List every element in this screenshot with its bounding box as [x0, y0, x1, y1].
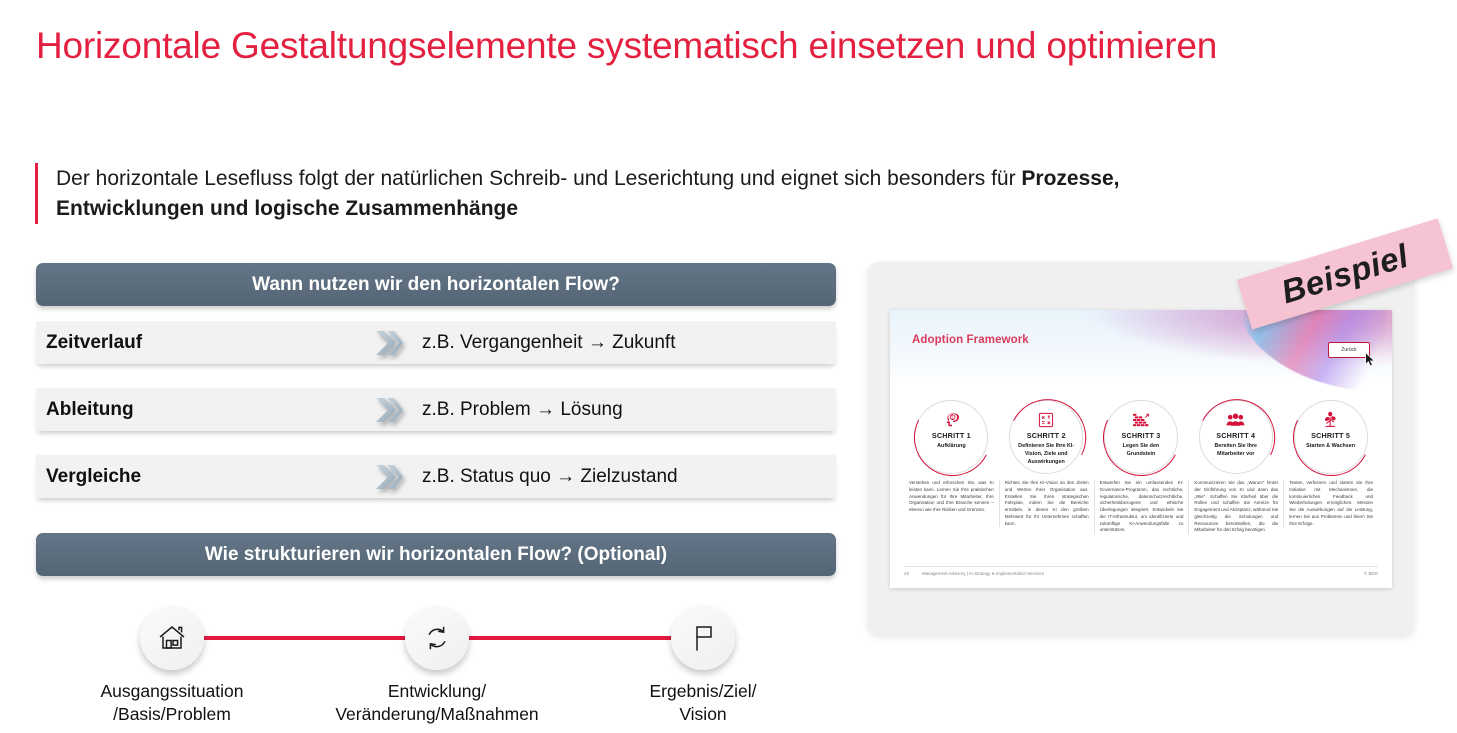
row-value: z.B. Vergangenheit → Zukunft — [412, 332, 676, 354]
flow-label-3-line2: Vision — [602, 703, 804, 726]
footer-copyright: © BDO — [1364, 571, 1378, 576]
flow-label-2-line2: Veränderung/Maßnahmen — [297, 703, 577, 726]
example-slide-footer: 29 Management Advisory | AI Strategy & I… — [904, 566, 1378, 576]
hero-gradient-decoration — [890, 310, 1392, 386]
flow-label-1: Ausgangssituation /Basis/Problem — [52, 680, 292, 727]
step-subtitle: Aufklärung — [919, 443, 983, 451]
lead-paragraph: Der horizontale Lesefluss folgt der natü… — [35, 163, 1235, 224]
lead-text-plain: Der horizontale Lesefluss folgt der natü… — [56, 167, 1021, 190]
row-label: Ableitung — [36, 399, 366, 421]
step-subtitle: Legen Sie den Grundstein — [1109, 443, 1173, 459]
step-body: Entwerfen Sie ein umfassendes KI-Governa… — [1094, 480, 1189, 534]
step-item[interactable]: SCHRITT 3 Legen Sie den Grundstein Entwe… — [1094, 400, 1189, 534]
beispiel-stamp-label: Beispiel — [1277, 237, 1413, 312]
example-panel: Adoption Framework Zurück — [868, 262, 1414, 634]
step-item[interactable]: SCHRITT 5 Starten & Wachsen Testen, verf… — [1283, 400, 1378, 534]
footer-text: Management Advisory | AI Strategy & Impl… — [922, 571, 1364, 576]
step-name: SCHRITT 1 — [932, 431, 971, 440]
step-circle: SCHRITT 2 Definieren Sie Ihre KI-Vision,… — [1009, 400, 1083, 474]
step-name: SCHRITT 2 — [1027, 431, 1066, 440]
red-accent-bar — [35, 163, 38, 224]
chevron-double-right-icon — [366, 395, 412, 425]
step-body: Kommunizieren Sie das „Warum“ hinter der… — [1188, 480, 1283, 534]
table-row[interactable]: Ableitung z.B. Problem → Lösung — [36, 388, 836, 431]
flow-nodes: Ausgangssituation /Basis/Problem Entwick… — [36, 598, 836, 733]
table-row[interactable]: Zeitverlauf z.B. Vergangenheit → Zukunft — [36, 321, 836, 364]
table-row[interactable]: Vergleiche z.B. Status quo → Zielzustand — [36, 455, 836, 498]
growing-plant-icon — [1323, 411, 1338, 428]
people-group-icon — [1226, 411, 1245, 428]
step-name: SCHRITT 5 — [1311, 431, 1350, 440]
example-slide-preview[interactable]: Adoption Framework Zurück — [890, 310, 1392, 588]
row-label: Zeitverlauf — [36, 332, 366, 354]
flow-label-3-line1: Ergebnis/Ziel/ — [602, 680, 804, 703]
flow-label-1-line2: /Basis/Problem — [52, 703, 292, 726]
step-subtitle: Bereiten Sie Ihre Mitarbeiter vor — [1204, 443, 1268, 459]
brain-head-icon — [943, 411, 960, 428]
step-body: Testen, verfeinern und starten Sie Ihre … — [1283, 480, 1378, 527]
steps-row: SCHRITT 1 Aufklärung Verstehen und erfor… — [904, 400, 1378, 534]
row-value: z.B. Problem → Lösung — [412, 399, 623, 421]
step-item[interactable]: SCHRITT 1 Aufklärung Verstehen und erfor… — [904, 400, 999, 534]
step-item[interactable]: SCHRITT 4 Bereiten Sie Ihre Mitarbeiter … — [1188, 400, 1283, 534]
row-value: z.B. Status quo → Zielzustand — [412, 466, 678, 488]
step-subtitle: Definieren Sie Ihre KI-Vision, Ziele und… — [1014, 443, 1078, 466]
flow-label-1-line1: Ausgangssituation — [52, 680, 292, 703]
flag-icon[interactable] — [671, 606, 735, 670]
refresh-cycle-icon[interactable] — [405, 606, 469, 670]
band-header-how: Wie strukturieren wir horizontalen Flow?… — [36, 533, 836, 576]
flow-label-2: Entwicklung/ Veränderung/Maßnahmen — [297, 680, 577, 727]
flow-label-3: Ergebnis/Ziel/ Vision — [602, 680, 804, 727]
brick-wall-icon — [1132, 411, 1150, 428]
slide-root: Horizontale Gestaltungselemente systemat… — [0, 0, 1457, 733]
step-body: Verstehen und erforschen Sie, was KI lei… — [904, 480, 999, 514]
step-name: SCHRITT 3 — [1122, 431, 1161, 440]
house-icon[interactable] — [140, 606, 204, 670]
page-title: Horizontale Gestaltungselemente systemat… — [36, 22, 1276, 69]
row-label: Vergleiche — [36, 466, 366, 488]
mouse-cursor-icon — [1365, 352, 1376, 372]
flow-label-2-line1: Entwicklung/ — [297, 680, 577, 703]
when-rows: Zeitverlauf z.B. Vergangenheit → Zukunft — [36, 321, 836, 498]
step-item[interactable]: SCHRITT 2 Definieren Sie Ihre KI-Vision,… — [999, 400, 1094, 534]
step-circle: SCHRITT 1 Aufklärung — [914, 400, 988, 474]
example-slide-title: Adoption Framework — [912, 334, 1029, 346]
chevron-double-right-icon — [366, 462, 412, 492]
flow-diagram: Ausgangssituation /Basis/Problem Entwick… — [36, 598, 836, 733]
step-subtitle: Starten & Wachsen — [1299, 443, 1363, 451]
step-body: Richten Sie Ihre KI-Vision an den Zielen… — [999, 480, 1094, 527]
band-header-when: Wann nutzen wir den horizontalen Flow? — [36, 263, 836, 306]
strategy-grid-icon — [1038, 411, 1054, 428]
back-button[interactable]: Zurück — [1328, 342, 1370, 358]
step-name: SCHRITT 4 — [1216, 431, 1255, 440]
step-circle: SCHRITT 5 Starten & Wachsen — [1294, 400, 1368, 474]
chevron-double-right-icon — [366, 328, 412, 358]
footer-page-number: 29 — [904, 571, 922, 576]
left-column: Wann nutzen wir den horizontalen Flow? Z… — [36, 263, 836, 733]
lead-text: Der horizontale Lesefluss folgt der natü… — [56, 163, 1235, 224]
step-circle: SCHRITT 3 Legen Sie den Grundstein — [1104, 400, 1178, 474]
step-circle: SCHRITT 4 Bereiten Sie Ihre Mitarbeiter … — [1199, 400, 1273, 474]
